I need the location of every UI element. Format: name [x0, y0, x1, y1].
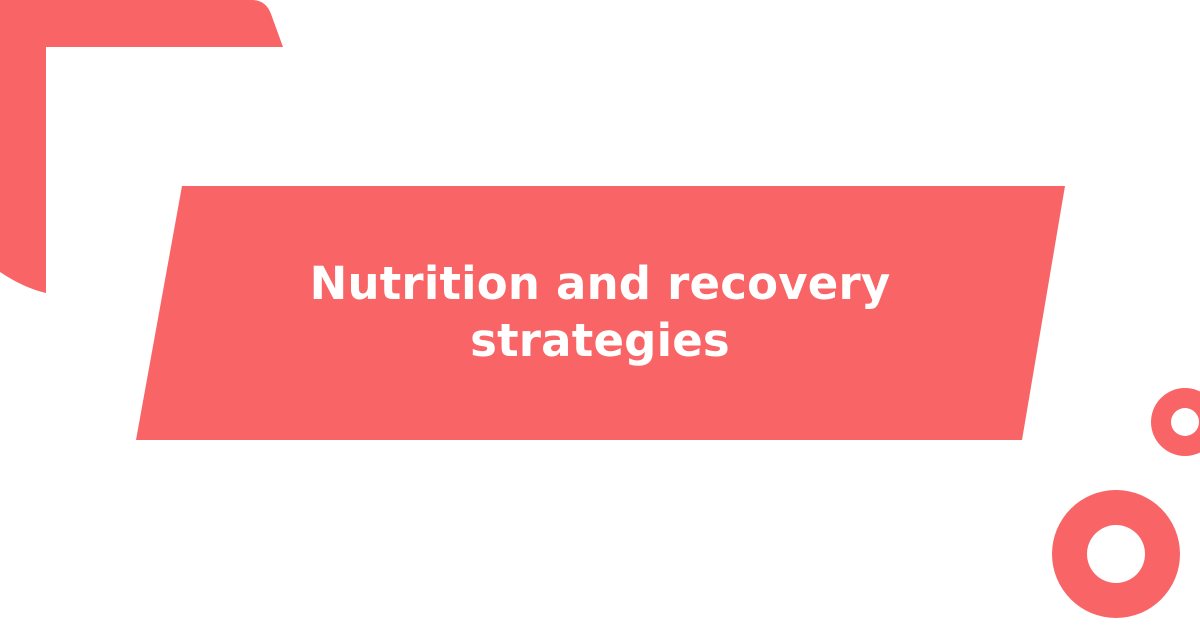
poster-canvas: Nutrition and recovery strategies	[0, 0, 1200, 630]
decorative-background	[0, 0, 1200, 630]
large-ring-shape	[1052, 490, 1180, 618]
banner-shape	[136, 186, 1065, 440]
small-ring-shape	[1151, 388, 1200, 456]
